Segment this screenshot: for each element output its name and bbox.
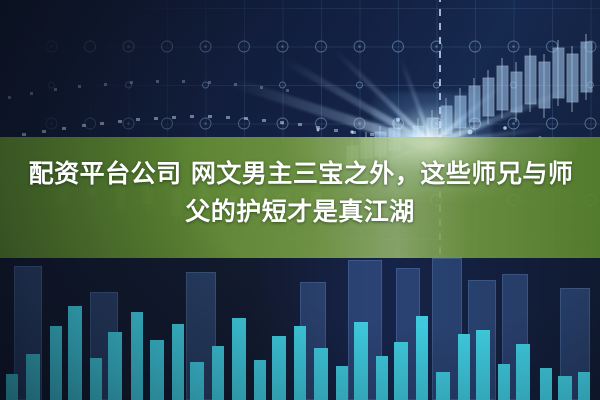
headline-line-2: 父的护短才是真江湖 [0, 193, 600, 231]
headline-block: 配资平台公司 网文男主三宝之外，这些师兄与师 父的护短才是真江湖 [0, 155, 600, 231]
banner-image: 配资平台公司 网文男主三宝之外，这些师兄与师 父的护短才是真江湖 [0, 0, 600, 400]
headline-line-1: 配资平台公司 网文男主三宝之外，这些师兄与师 [0, 155, 600, 193]
